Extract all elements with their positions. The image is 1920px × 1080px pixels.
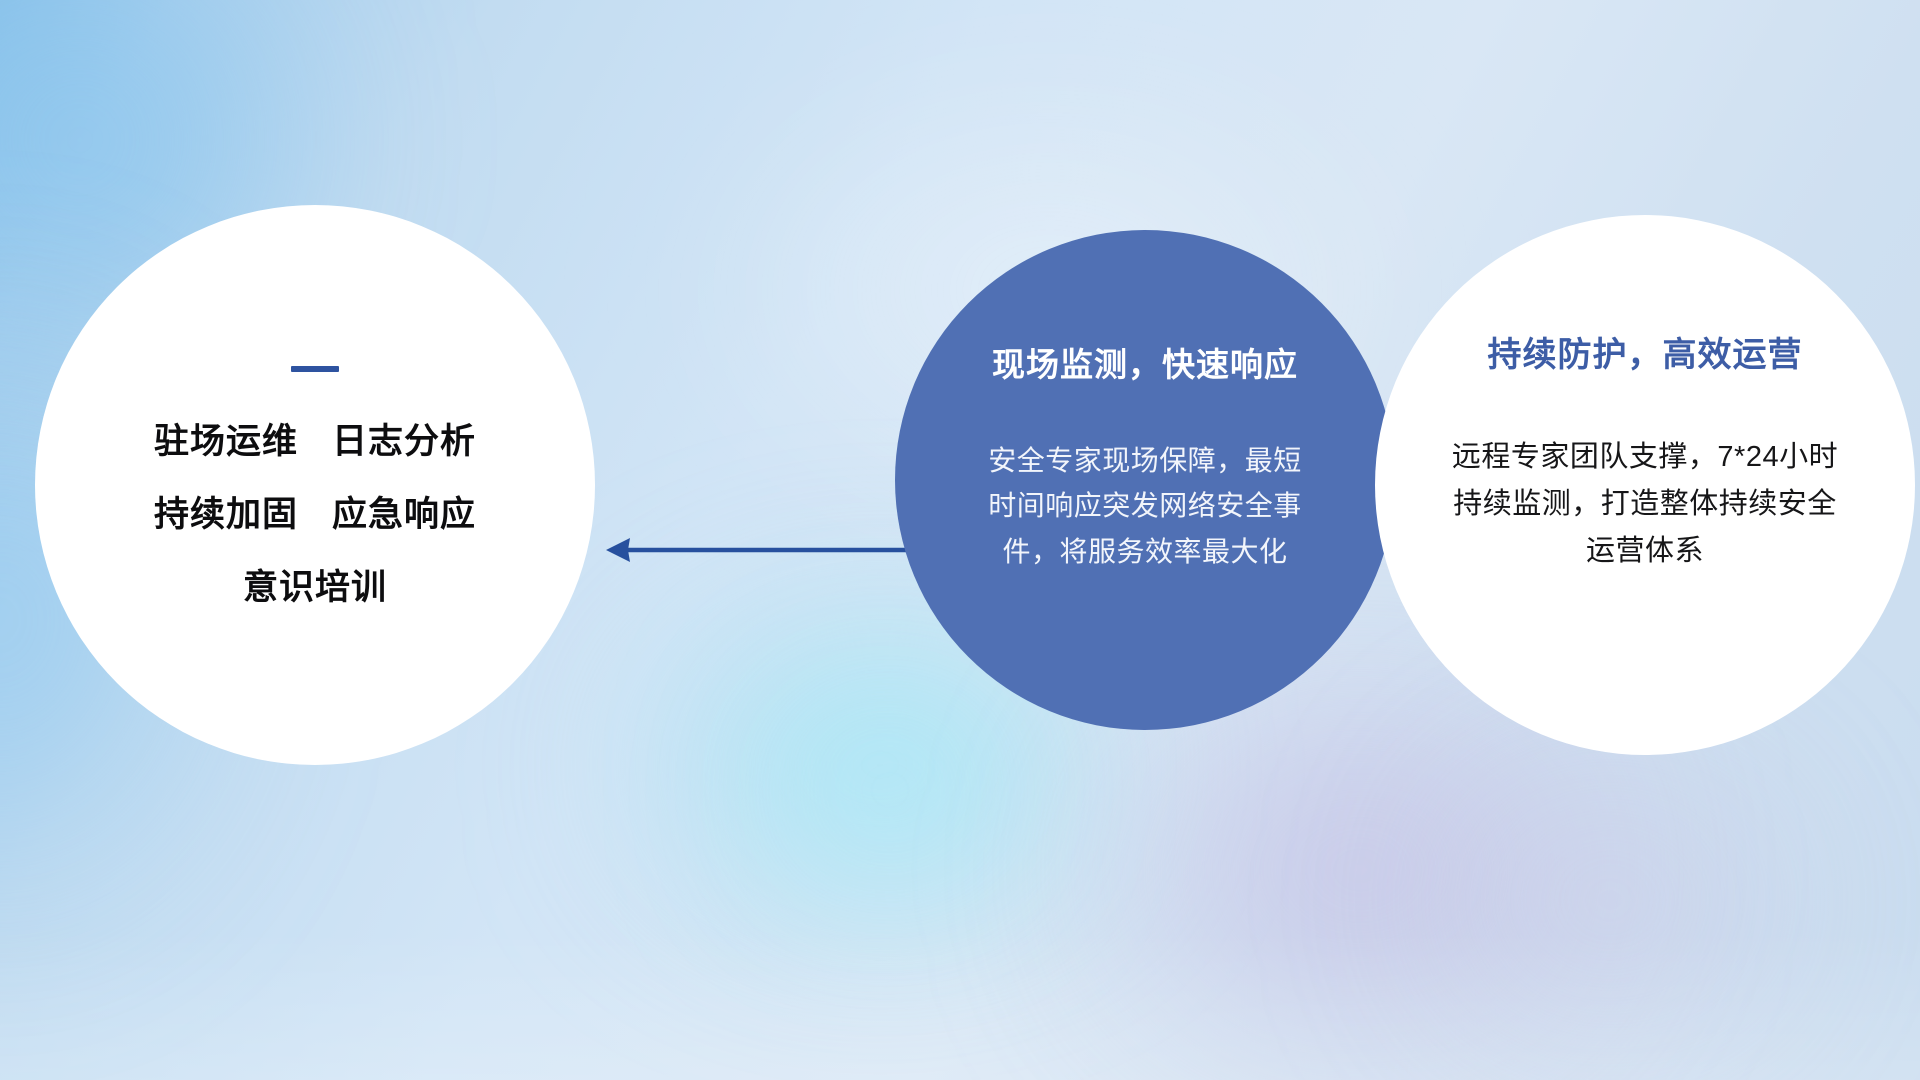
- onsite-title: 现场监测，快速响应: [992, 338, 1298, 386]
- skill-row: 持续加固 应急响应: [154, 497, 476, 532]
- remote-title: 持续防护，高效运营: [1488, 327, 1803, 376]
- skill-tag: 持续加固: [154, 497, 298, 532]
- remote-description: 远程专家团队支撑，7*24小时持续监测，打造整体持续安全运营体系: [1445, 434, 1845, 575]
- title-divider-dash: [291, 366, 339, 372]
- onsite-monitoring-circle: 现场监测，快速响应 安全专家现场保障，最短时间响应突发网络安全事件，将服务效率最…: [895, 230, 1395, 730]
- skill-row: 意识培训: [243, 570, 387, 605]
- skill-tag: 日志分析: [332, 424, 476, 459]
- slide-canvas: 驻场运维 日志分析 持续加固 应急响应 意识培训 现场监测，快速响应 安全专家现…: [0, 0, 1920, 1080]
- skill-row: 驻场运维 日志分析: [154, 424, 476, 459]
- skills-circle: 驻场运维 日志分析 持续加固 应急响应 意识培训: [35, 205, 595, 765]
- remote-operations-circle: 持续防护，高效运营 远程专家团队支撑，7*24小时持续监测，打造整体持续安全运营…: [1375, 215, 1915, 755]
- skill-tag: 意识培训: [243, 570, 387, 605]
- onsite-description: 安全专家现场保障，最短时间响应突发网络安全事件，将服务效率最大化: [980, 438, 1310, 574]
- background-glow-cyan-core: [760, 690, 1020, 890]
- flow-arrow-icon: [600, 510, 920, 590]
- background-bottom-sheen: [0, 930, 1920, 1080]
- skill-tag: 应急响应: [332, 497, 476, 532]
- skill-tag: 驻场运维: [154, 424, 298, 459]
